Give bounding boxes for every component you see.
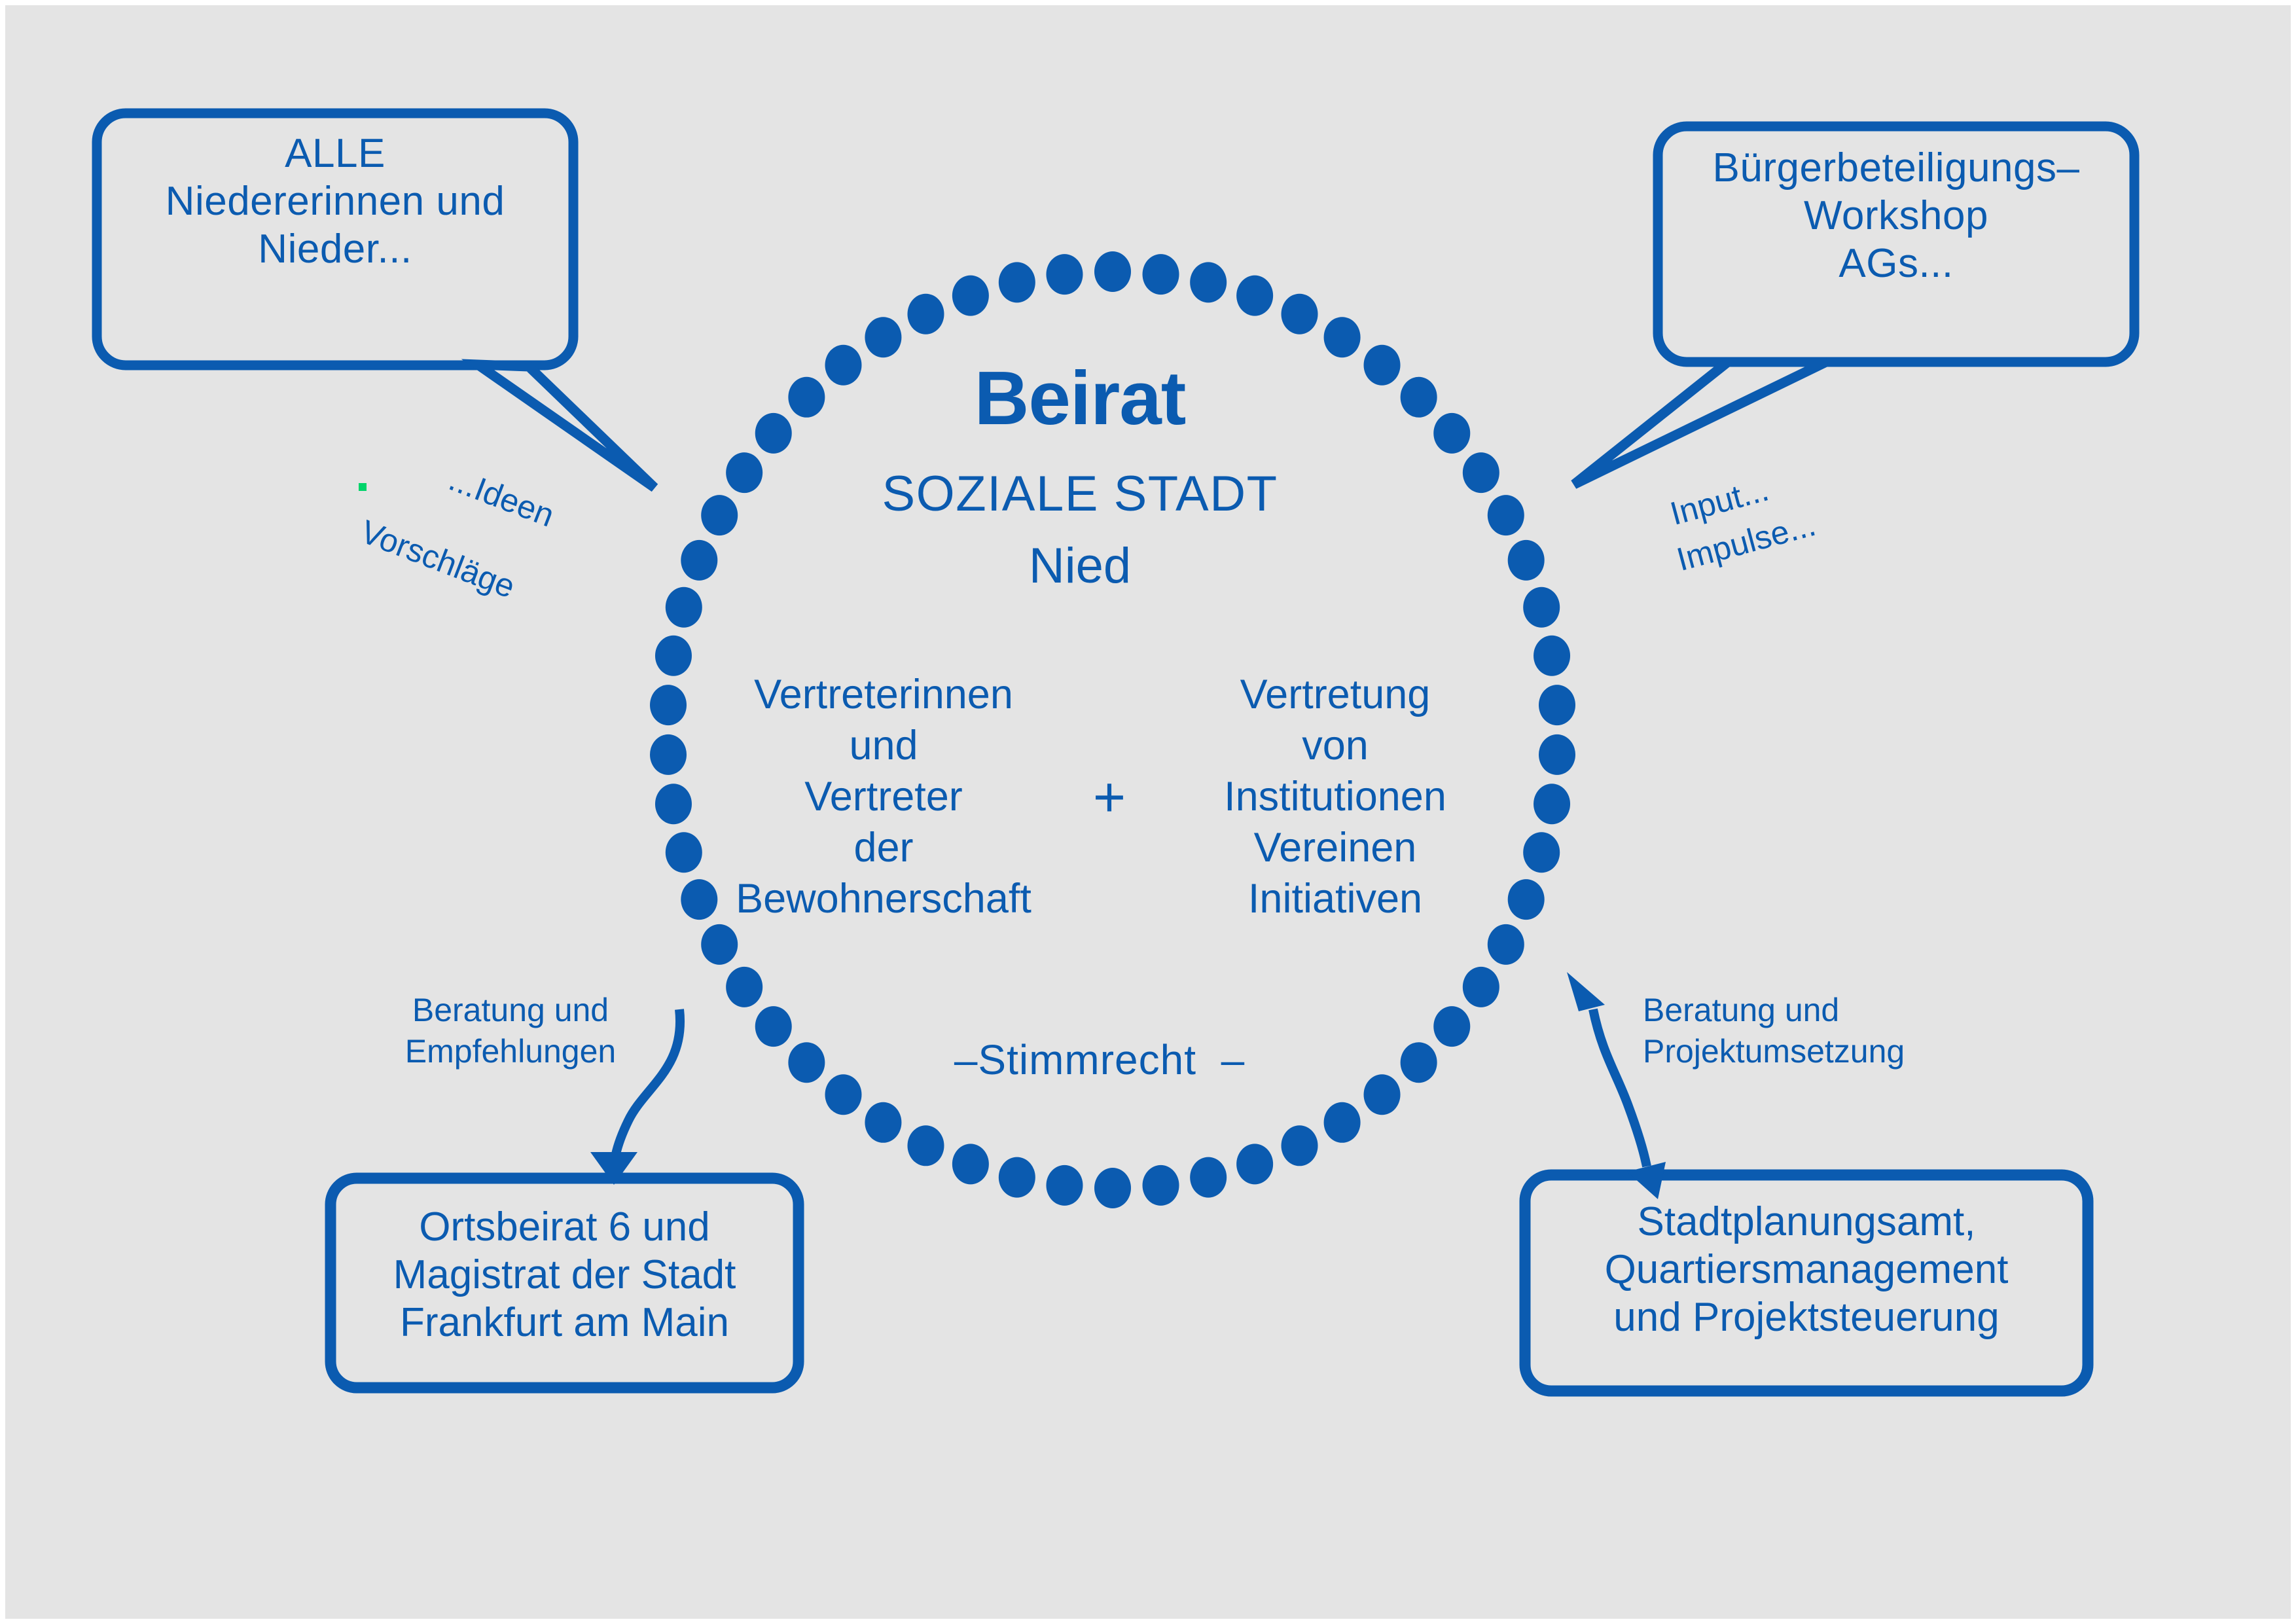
circle-dot [755,1006,792,1047]
circle-dot [907,1125,944,1166]
plus-icon: + [1067,769,1152,825]
text-line: Initiativen [1172,873,1499,924]
text-line: Empfehlungen [353,1031,668,1072]
text-line: und Projektsteuerung [1525,1293,2088,1341]
circle-dot [907,294,944,334]
text-line: Institutionen [1172,771,1499,822]
circle-dot [1324,1102,1361,1143]
circle-dot [1143,254,1179,295]
circle-dot [1282,294,1318,334]
circle-dot [865,1102,901,1143]
flow-label-left-out: Beratung undEmpfehlungen [353,990,668,1072]
circle-dot [1534,784,1570,824]
circle-dot [952,276,989,316]
circle-dot [865,317,901,357]
diagram-stage: ALLENiedererinnen undNieder... Bürgerbet… [0,0,2296,1624]
text-line: Vertreterinnen [707,669,1060,720]
circle-dot [1523,587,1560,628]
text-line: Quartiersmanagement [1525,1246,2088,1293]
circle-dot [1282,1125,1318,1166]
circle-dot [1190,1157,1227,1198]
circle-dot [655,636,692,676]
box-bottom-left-label: Ortsbeirat 6 undMagistrat der StadtFrank… [331,1203,798,1346]
voting-note: –Stimmrecht – [916,1036,1283,1085]
circle-dot [1508,879,1545,920]
circle-dot [1236,1144,1273,1184]
circle-dot [1539,685,1575,725]
circle-dot [666,587,702,628]
center-right-column: VertretungvonInstitutionenVereinenInitia… [1172,669,1499,925]
circle-dot [1094,1168,1131,1208]
circle-dot [999,262,1035,302]
circle-dot [825,1074,861,1115]
text-line: Bewohnerschaft [707,873,1060,924]
circle-dot [681,540,717,581]
circle-dot [1401,1042,1437,1083]
text-line: Vertreter [707,771,1060,822]
box-bottom-right-label: Stadtplanungsamt,Quartiersmanagementund … [1525,1198,2088,1341]
circle-dot [1508,540,1545,581]
circle-dot [952,1144,989,1184]
circle-dot [1463,452,1499,493]
green-marker-dot [359,483,367,491]
text-line: Workshop [1658,192,2134,240]
center-left-column: VertreterinnenundVertreterderBewohnersch… [707,669,1060,925]
text-line: Magistrat der Stadt [331,1251,798,1299]
text-line: Vereinen [1172,822,1499,873]
text-line: Vertretung [1172,669,1499,720]
circle-dot [1463,967,1499,1007]
text-line: von [1172,720,1499,771]
circle-dot [1401,377,1437,418]
page-title: Beirat [785,353,1374,443]
circle-dot [1488,924,1524,965]
circle-dot [1433,413,1470,454]
circle-dot [1094,251,1131,292]
circle-dot [1523,832,1560,873]
circle-dot [1046,254,1083,295]
center-subtitle: SOZIALE STADT [785,465,1374,524]
text-line: Ortsbeirat 6 und [331,1203,798,1251]
circle-dot [666,832,702,873]
circle-dot [1488,495,1524,535]
circle-dot [1046,1165,1083,1206]
text-line: Beratung und [353,990,668,1031]
circle-dot [1534,636,1570,676]
circle-dot [650,685,687,725]
circle-dot [1433,1006,1470,1047]
circle-dot [726,967,762,1007]
circle-dot [788,1042,825,1083]
circle-dot [655,784,692,824]
circle-dot [1364,1074,1401,1115]
bubble-left-label: ALLENiedererinnen undNieder... [97,130,573,273]
text-line: Nieder... [97,225,573,273]
circle-dot [650,734,687,775]
circle-dot [1539,734,1575,775]
circle-dot [726,452,762,493]
center-locality: Nied [785,537,1374,596]
circle-dot [999,1157,1035,1198]
text-line: Stadtplanungsamt, [1525,1198,2088,1246]
text-line: Niedererinnen und [97,177,573,225]
circle-dot [1190,262,1227,302]
text-line: ALLE [97,130,573,177]
text-line: AGs... [1658,240,2134,287]
bubble-right-label: Bürgerbeteiligungs–WorkshopAGs... [1658,144,2134,287]
circle-dot [1236,276,1273,316]
circle-dot [1324,317,1361,357]
circle-dot [701,924,738,965]
text-line: Beratung und [1643,990,2009,1031]
text-line: der [707,822,1060,873]
text-line: Bürgerbeteiligungs– [1658,144,2134,192]
flow-label-right-out: Beratung undProjektumsetzung [1643,990,2009,1072]
text-line: Projektumsetzung [1643,1031,2009,1072]
text-line: Frankfurt am Main [331,1299,798,1346]
circle-dot [701,495,738,535]
circle-dot [1143,1165,1179,1206]
text-line: und [707,720,1060,771]
